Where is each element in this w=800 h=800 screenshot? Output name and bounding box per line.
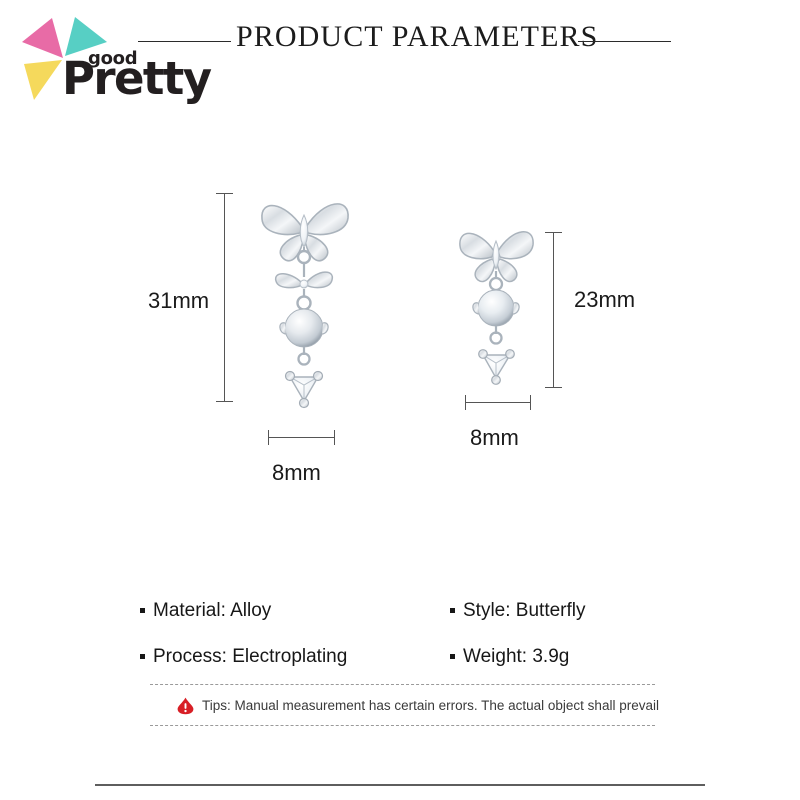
dim-cap-top-left bbox=[216, 193, 233, 194]
page-header: good Pretty PRODUCT PARAMETERS bbox=[0, 0, 800, 110]
spec-row: Process: Electroplating Weight: 3.9g bbox=[140, 634, 660, 680]
bullet-square-icon bbox=[140, 654, 145, 659]
dim-cap-top-right bbox=[545, 232, 562, 233]
title-rule-right bbox=[578, 41, 671, 42]
tips-rule-bottom bbox=[150, 725, 655, 726]
logo-word-pretty: Pretty bbox=[62, 56, 210, 101]
short-butterfly-drop-earring bbox=[436, 215, 576, 405]
spec-process-label: Process: Electroplating bbox=[153, 646, 347, 668]
spec-weight: Weight: 3.9g bbox=[450, 646, 660, 668]
dim-label-height-left: 31mm bbox=[148, 288, 209, 314]
dim-line-width-right bbox=[465, 402, 531, 403]
long-butterfly-drop-earring bbox=[240, 185, 410, 425]
spec-grid: Material: Alloy Style: Butterfly Process… bbox=[140, 588, 660, 680]
tips-text: Tips: Manual measurement has certain err… bbox=[202, 698, 659, 713]
dim-cap-left-right bbox=[465, 395, 466, 410]
dim-label-width-right: 8mm bbox=[470, 425, 519, 451]
bullet-square-icon bbox=[450, 654, 455, 659]
tips-row: Tips: Manual measurement has certain err… bbox=[150, 685, 655, 725]
spec-style-label: Style: Butterfly bbox=[463, 600, 586, 622]
dim-label-height-right: 23mm bbox=[574, 287, 635, 313]
warning-icon bbox=[176, 696, 195, 715]
page-title: PRODUCT PARAMETERS bbox=[236, 20, 572, 54]
dim-line-height-right bbox=[553, 232, 554, 387]
spec-row: Material: Alloy Style: Butterfly bbox=[140, 588, 660, 634]
product-illustration-area: 31mm 8mm bbox=[0, 110, 800, 570]
bullet-square-icon bbox=[450, 608, 455, 613]
spec-process: Process: Electroplating bbox=[140, 646, 450, 668]
brand-logo[interactable]: good Pretty bbox=[12, 12, 197, 102]
dim-line-height-left bbox=[224, 193, 225, 401]
tips-section: Tips: Manual measurement has certain err… bbox=[150, 684, 655, 726]
bullet-square-icon bbox=[140, 608, 145, 613]
dim-cap-left-left bbox=[268, 430, 269, 445]
title-rule-left bbox=[138, 41, 231, 42]
spec-material-label: Material: Alloy bbox=[153, 600, 271, 622]
dim-cap-bottom-left bbox=[216, 401, 233, 402]
dim-cap-right-left bbox=[334, 430, 335, 445]
dim-cap-bottom-right bbox=[545, 387, 562, 388]
spec-style: Style: Butterfly bbox=[450, 600, 660, 622]
footer-rule bbox=[95, 784, 705, 786]
spec-weight-label: Weight: 3.9g bbox=[463, 646, 569, 668]
dim-cap-right-right bbox=[530, 395, 531, 410]
dim-line-width-left bbox=[268, 437, 335, 438]
dim-label-width-left: 8mm bbox=[272, 460, 321, 486]
spec-material: Material: Alloy bbox=[140, 600, 450, 622]
